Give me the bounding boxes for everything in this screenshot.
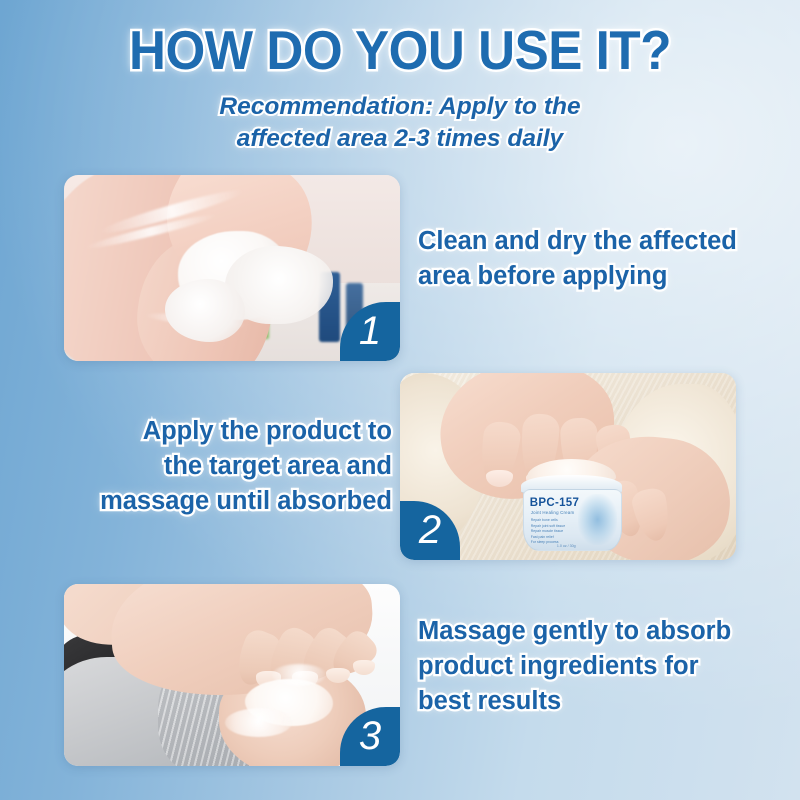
jar-size-label: 1.0 oz / 30g <box>557 544 576 548</box>
joint-graphic <box>578 494 617 545</box>
step-2-text: Apply the product to the target area and… <box>62 414 392 520</box>
cream-smear <box>225 708 292 737</box>
jar-subtitle: Joint Healing Cream <box>531 510 575 515</box>
cream-highlight <box>272 664 326 686</box>
step-number: 1 <box>359 311 381 351</box>
step-1-text: Clean and dry the affected area before a… <box>418 224 748 294</box>
step-2-line-1: Apply the product to <box>62 414 392 449</box>
jar-benefit-list: Repair bone cells Repair joint soft tiss… <box>531 518 581 545</box>
step-2-line-2: the target area and <box>62 449 392 484</box>
product-jar: BPC-157 Joint Healing Cream Repair bone … <box>521 459 622 549</box>
infographic-canvas: HOW DO YOU USE IT? Recommendation: Apply… <box>0 0 800 800</box>
page-title: HOW DO YOU USE IT? <box>28 22 772 79</box>
header-block: HOW DO YOU USE IT? Recommendation: Apply… <box>0 22 800 155</box>
step-1-line-2: area before applying <box>418 259 748 294</box>
jar-brand-name: BPC-157 <box>530 497 579 509</box>
subtitle-line-1: Recommendation: Apply to the <box>165 91 635 123</box>
step-3-line-3: best results <box>418 684 758 719</box>
step-3-line-2: product ingredients for <box>418 649 758 684</box>
step-2-photo: BPC-157 Joint Healing Cream Repair bone … <box>400 373 736 560</box>
step-number: 2 <box>419 510 441 550</box>
step-3-photo: 3 <box>64 584 400 766</box>
jar-label: BPC-157 Joint Healing Cream Repair bone … <box>523 489 622 551</box>
step-1-line-1: Clean and dry the affected <box>418 224 748 259</box>
step-3-line-1: Massage gently to absorb <box>418 614 758 649</box>
recommendation-subtitle: Recommendation: Apply to the affected ar… <box>165 91 635 155</box>
step-number: 3 <box>359 716 381 756</box>
step-3-text: Massage gently to absorb product ingredi… <box>418 614 758 720</box>
step-1-photo: 1 <box>64 175 400 361</box>
step-2-line-3: massage until absorbed <box>62 484 392 519</box>
subtitle-line-2: affected area 2-3 times daily <box>165 123 635 155</box>
